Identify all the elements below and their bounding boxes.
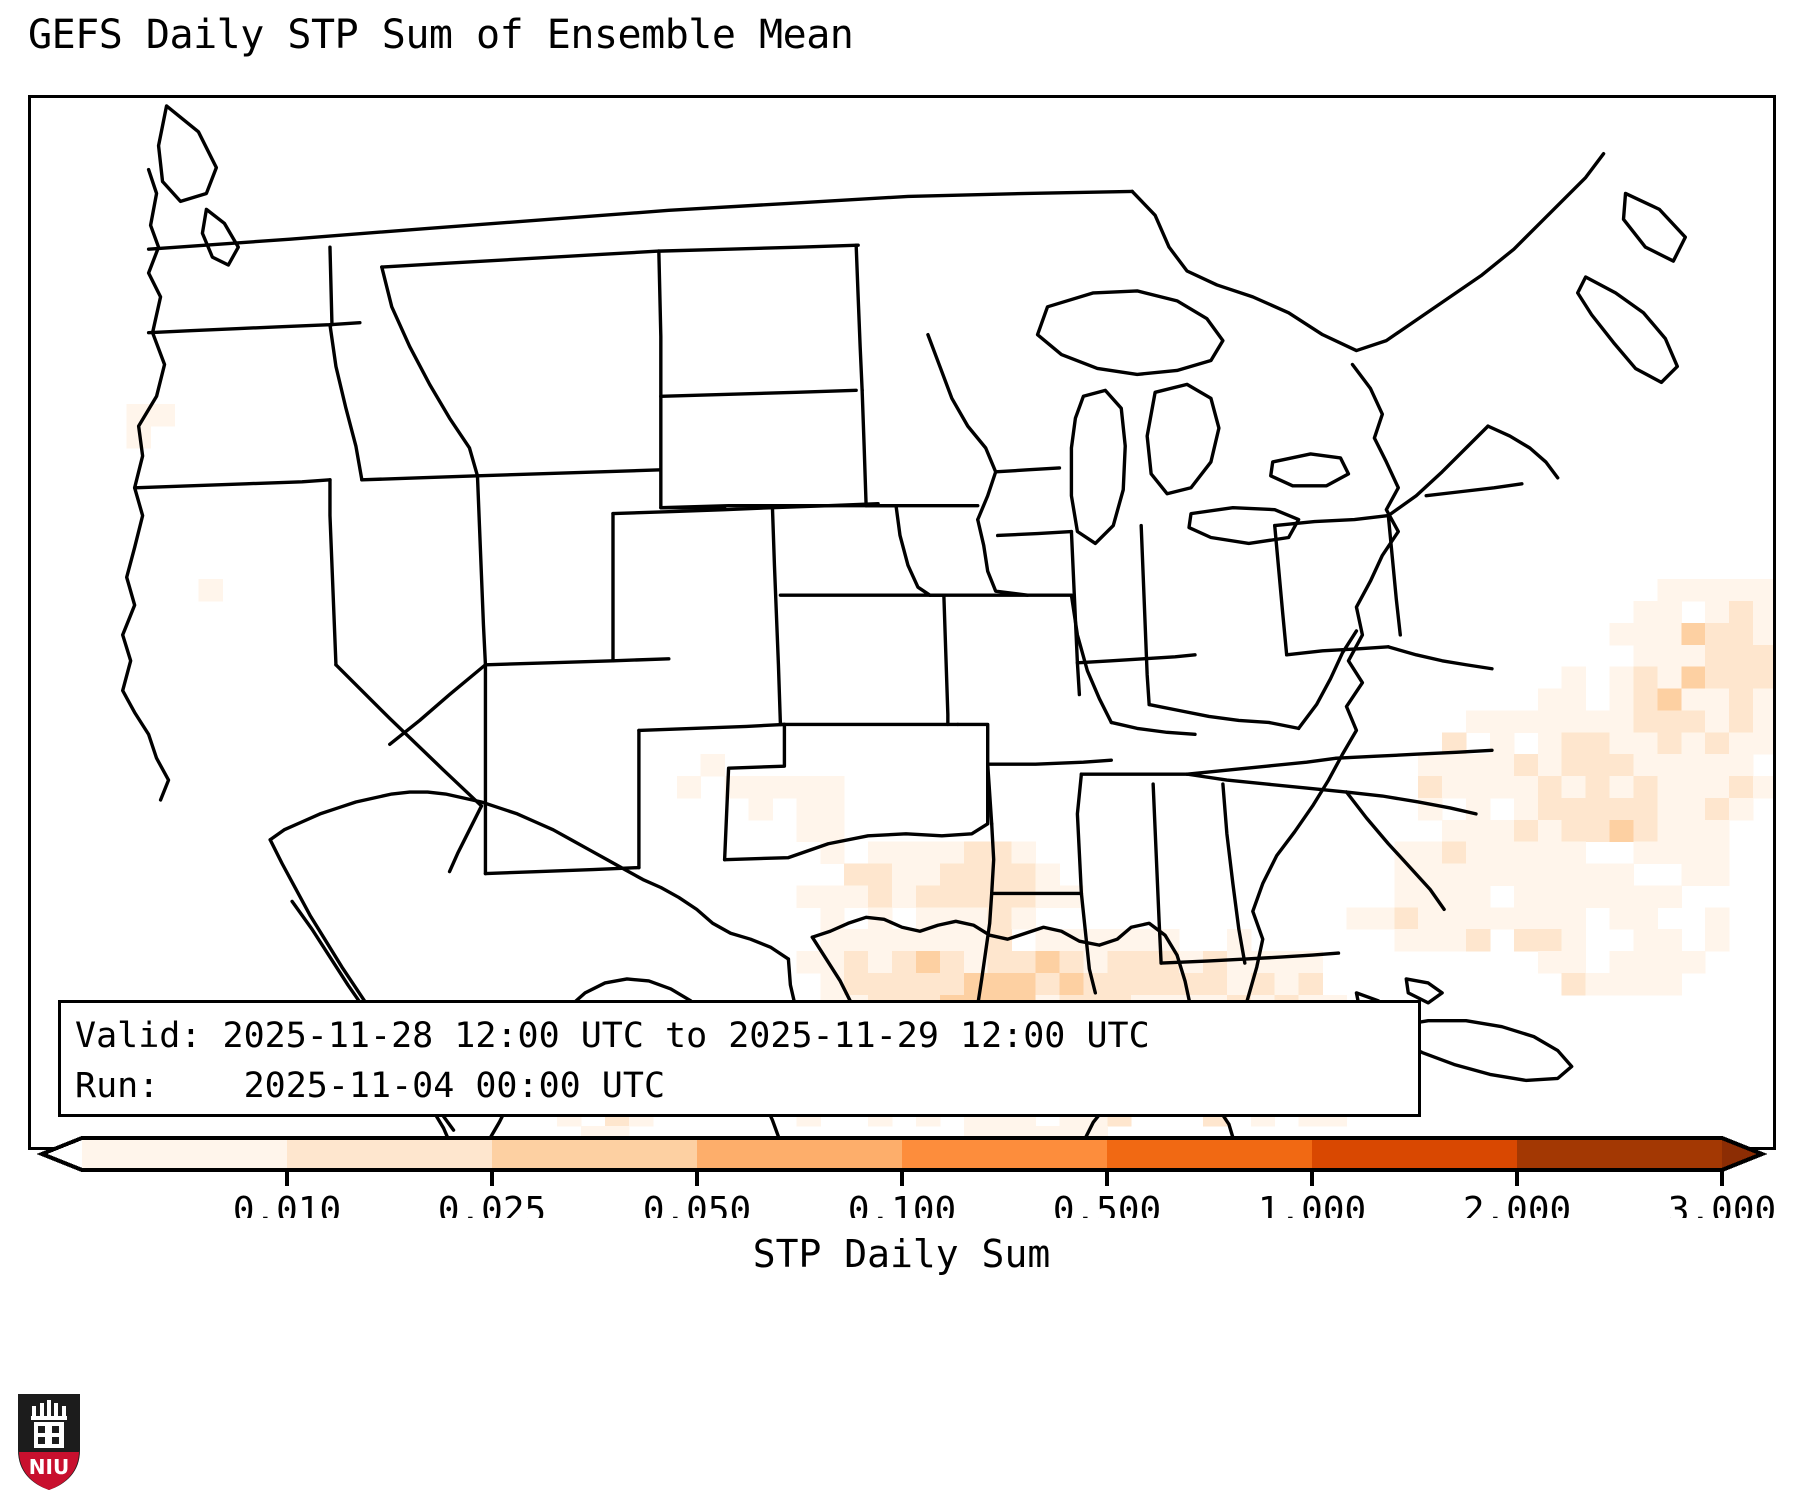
- nm-co-border: [639, 724, 784, 730]
- colorbar-segment: [1107, 1138, 1313, 1170]
- colorbar-tick-labels: 0.0100.0250.0500.1000.5001.0002.0003.000: [233, 1190, 1776, 1218]
- niu-logo-text: NIU: [29, 1455, 69, 1479]
- ms-al-border: [1153, 784, 1161, 963]
- ne-ia-border: [896, 506, 930, 595]
- mt-wy-border: [477, 470, 660, 476]
- colorbar-tick-label: 3.000: [1668, 1190, 1776, 1218]
- colorbar-under-arrow: [42, 1138, 82, 1170]
- nd-sd-border: [661, 390, 856, 396]
- in-oh-border: [1141, 526, 1149, 705]
- colorbar[interactable]: 0.0100.0250.0500.1000.5001.0002.0003.000: [0, 1128, 1803, 1218]
- us-canada-border-west: [149, 191, 1133, 249]
- pa-md-border: [1287, 647, 1389, 655]
- lake-ontario: [1271, 454, 1349, 486]
- ks-mo-border: [944, 595, 948, 724]
- ne-states-detail: [1488, 426, 1558, 478]
- colorbar-tick-label: 0.050: [643, 1190, 751, 1218]
- colorbar-tick-label: 1.000: [1258, 1190, 1366, 1218]
- tn-ky-border: [1187, 758, 1336, 774]
- colorbar-segment: [697, 1138, 903, 1170]
- wa-id-border: [330, 247, 332, 325]
- colorbar-tick-label: 0.010: [233, 1190, 341, 1218]
- ga-sc-border: [1346, 792, 1444, 909]
- ny-vt-nh-border: [1388, 426, 1488, 515]
- oh-pa-border: [1275, 526, 1287, 655]
- nv-az-border: [390, 665, 486, 745]
- colorbar-ticks: [287, 1170, 1722, 1186]
- colorbar-tick-label: 0.500: [1053, 1190, 1161, 1218]
- wi-il-border: [998, 532, 1072, 536]
- ca-nv-border: [330, 480, 336, 665]
- wy-ut-co-border: [485, 659, 668, 665]
- canada-east-coast: [1132, 154, 1603, 351]
- colorbar-segment: [902, 1138, 1108, 1170]
- nd-canada: [659, 245, 858, 251]
- mi-lower-wi-border: [996, 468, 1060, 472]
- info-valid-line: Valid: 2025-11-28 12:00 UTC to 2025-11-2…: [75, 1011, 1404, 1061]
- page-title: GEFS Daily STP Sum of Ensemble Mean: [28, 12, 853, 58]
- colorbar-segment: [82, 1138, 288, 1170]
- nm-tx-east: [725, 724, 785, 859]
- lake-michigan: [1071, 390, 1125, 543]
- lake-superior: [1038, 291, 1223, 375]
- colorbar-segment: [492, 1138, 698, 1170]
- colorbar-tick-label: 0.100: [848, 1190, 956, 1218]
- mi-oh-in-border: [1077, 655, 1195, 663]
- us-mexico-border: [270, 792, 788, 959]
- info-run-line: Run: 2025-11-04 00:00 UTC: [75, 1061, 1404, 1111]
- co-ks-border: [772, 508, 780, 725]
- ar-ms-border: [1077, 774, 1081, 893]
- ny-ct-ma-border: [1426, 484, 1522, 496]
- il-ky-mo-border: [1111, 722, 1195, 734]
- or-ca-border: [135, 480, 330, 488]
- colorbar-segment: [1517, 1138, 1723, 1170]
- ia-il-border: [978, 520, 1028, 596]
- mt-nd-border: [659, 251, 661, 470]
- nc-sc-border: [1346, 792, 1476, 814]
- tn-border-south: [1187, 774, 1346, 792]
- az-nm-border: [485, 868, 638, 874]
- ar-tx-border: [992, 824, 994, 894]
- nova-scotia: [1578, 277, 1678, 382]
- lake-huron: [1147, 384, 1219, 493]
- la-tx-border: [978, 893, 992, 1004]
- newfoundland-sliver: [1624, 193, 1686, 261]
- wy-sd-ne-border: [661, 470, 725, 508]
- nd-mn-border: [856, 245, 862, 390]
- mn-wi-border: [928, 335, 996, 520]
- sd-ne-border: [661, 506, 896, 508]
- puget-sound-detail: [202, 209, 238, 265]
- md-va-border: [1388, 647, 1492, 669]
- al-ga-border: [1223, 784, 1245, 963]
- pacific-coast: [123, 170, 169, 800]
- nc-va-border: [1337, 750, 1492, 758]
- vancouver-island: [159, 106, 217, 201]
- nv-ut-border: [477, 476, 485, 665]
- colorbar-segments: [42, 1138, 1762, 1170]
- nv-id-border: [362, 476, 478, 480]
- colorbar-segment: [1312, 1138, 1518, 1170]
- al-fl-border: [1161, 959, 1245, 963]
- colorbar-tick-label: 2.000: [1463, 1190, 1571, 1218]
- ok-tx-border: [725, 764, 988, 859]
- niu-shield-logo: NIU: [14, 1392, 84, 1492]
- colorbar-axis-label: STP Daily Sum: [0, 1232, 1803, 1276]
- geography-layer: [31, 98, 1773, 1147]
- colorbar-over-arrow: [1722, 1138, 1762, 1170]
- colorbar-segment: [287, 1138, 493, 1170]
- mo-ar-border: [988, 760, 1112, 764]
- sd-mn-ia-border: [862, 390, 866, 505]
- map-frame: [28, 95, 1776, 1150]
- or-id-border: [330, 325, 362, 480]
- ky-oh-wv-border: [1149, 705, 1298, 729]
- ca-az-border: [450, 806, 482, 872]
- id-mt-border: [382, 267, 478, 476]
- colorbar-tick-label: 0.025: [438, 1190, 546, 1218]
- info-box: Valid: 2025-11-28 12:00 UTC to 2025-11-2…: [58, 1000, 1421, 1117]
- mt-canada: [382, 251, 659, 267]
- ok-mo-ar-border: [958, 724, 988, 764]
- wa-or-border: [149, 323, 360, 333]
